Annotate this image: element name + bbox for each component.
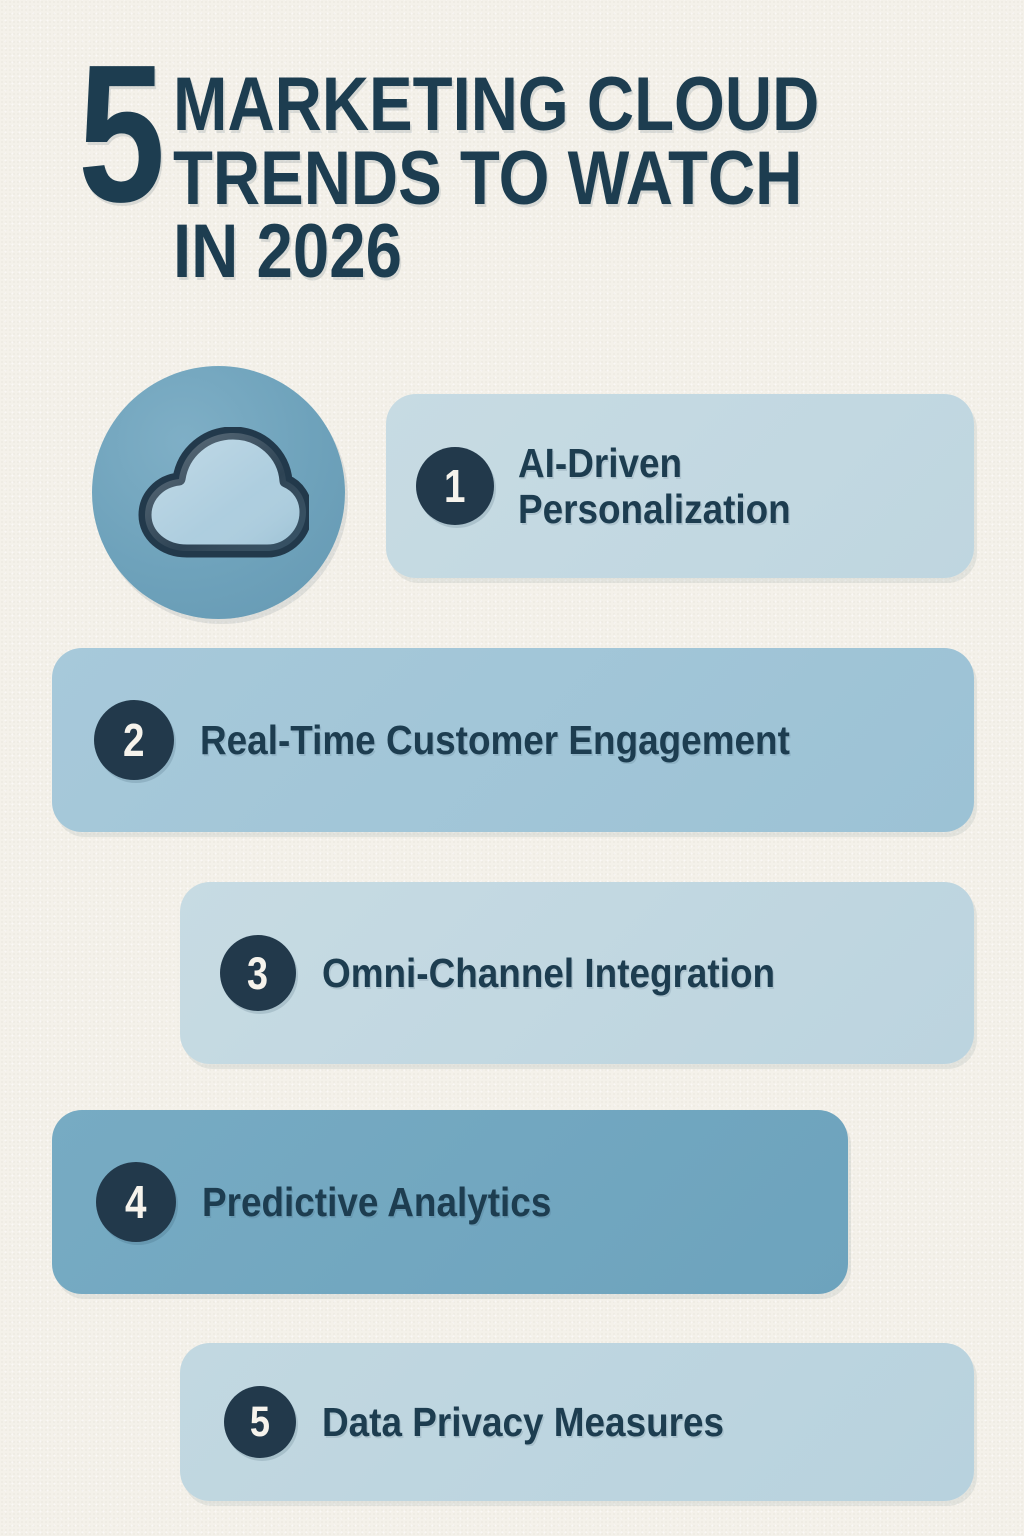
- trend-number-badge-2: 2: [94, 700, 174, 780]
- trend-card-1[interactable]: 1 AI-Driven Personalization: [386, 394, 974, 578]
- trend-number-badge-3: 3: [220, 935, 296, 1011]
- title-line-3: IN 2026: [173, 215, 819, 289]
- trend-label-5: Data Privacy Measures: [322, 1399, 724, 1445]
- trend-label-3: Omni-Channel Integration: [322, 950, 775, 996]
- trend-number-4: 4: [125, 1179, 146, 1225]
- headline-number: 5: [78, 56, 162, 213]
- trend-number-badge-5: 5: [224, 1386, 296, 1458]
- trend-number-badge-4: 4: [96, 1162, 176, 1242]
- trend-number-5: 5: [250, 1401, 270, 1444]
- title-line-2: TRENDS TO WATCH: [173, 142, 819, 216]
- cloud-icon: [129, 427, 309, 559]
- trend-label-2: Real-Time Customer Engagement: [200, 717, 790, 763]
- title-line-1: MARKETING CLOUD: [173, 68, 819, 142]
- cloud-icon-circle: [92, 366, 345, 619]
- trend-card-4[interactable]: 4 Predictive Analytics: [52, 1110, 848, 1294]
- header: 5 MARKETING CLOUD TRENDS TO WATCH IN 202…: [78, 56, 958, 289]
- page-title: MARKETING CLOUD TRENDS TO WATCH IN 2026: [173, 68, 925, 289]
- trend-number-3: 3: [247, 951, 268, 996]
- trend-number-badge-1: 1: [416, 447, 494, 525]
- trend-label-1: AI-Driven Personalization: [518, 440, 928, 533]
- trend-number-2: 2: [123, 717, 144, 763]
- trend-card-3[interactable]: 3 Omni-Channel Integration: [180, 882, 974, 1064]
- trend-card-2[interactable]: 2 Real-Time Customer Engagement: [52, 648, 974, 832]
- trend-label-4: Predictive Analytics: [202, 1179, 551, 1225]
- trend-number-1: 1: [444, 463, 465, 509]
- trend-card-5[interactable]: 5 Data Privacy Measures: [180, 1343, 974, 1501]
- infographic-page: 5 MARKETING CLOUD TRENDS TO WATCH IN 202…: [0, 0, 1024, 1536]
